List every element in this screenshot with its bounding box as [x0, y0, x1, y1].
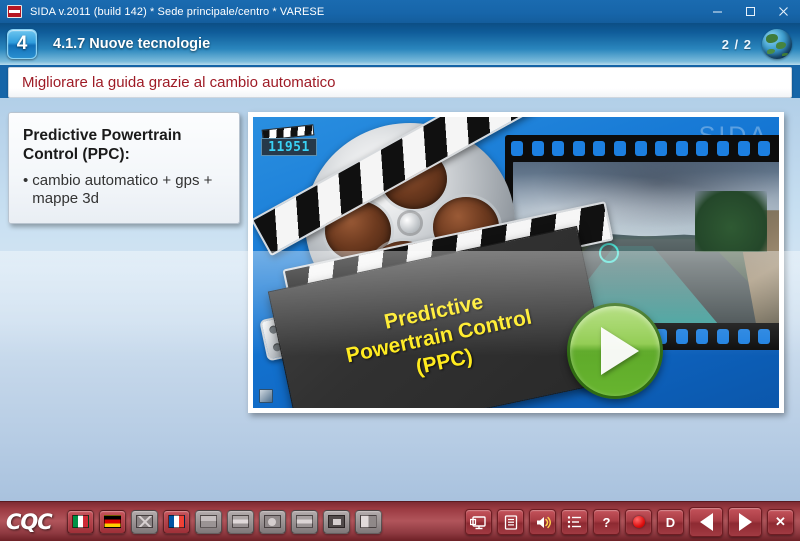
- language-button-9[interactable]: [323, 510, 350, 534]
- info-panel-list: • cambio automatico + gps + mappe 3d: [23, 172, 225, 208]
- italian-flag-icon: [72, 515, 89, 528]
- english-flag-icon: [136, 515, 153, 528]
- window-controls: [701, 0, 800, 23]
- video-canvas: SIDA Autoscuola Multimediale: [253, 117, 779, 408]
- language-6-flag-icon: [232, 515, 249, 528]
- bullet-marker: •: [23, 172, 28, 208]
- topic-bar: Migliorare la guida grazie al cambio aut…: [8, 67, 792, 98]
- play-icon: [601, 327, 639, 375]
- info-panel-heading: Predictive Powertrain Control (PPC):: [23, 126, 225, 164]
- language-button-10[interactable]: [355, 510, 382, 534]
- help-icon[interactable]: ?: [593, 509, 620, 535]
- toolbar-left-group: CQC: [0, 510, 382, 534]
- application-window: SIDA v.2011 (build 142) * Sede principal…: [0, 0, 800, 541]
- exit-button[interactable]: ✕: [767, 509, 794, 535]
- film-perforation: [717, 329, 729, 344]
- window-title: SIDA v.2011 (build 142) * Sede principal…: [30, 6, 324, 18]
- page-counter: 2 / 2: [722, 37, 752, 52]
- sida-app-icon: [7, 5, 22, 18]
- record-icon[interactable]: [625, 509, 652, 535]
- film-perforation: [614, 141, 626, 156]
- film-perforation: [738, 141, 750, 156]
- film-perforation: [738, 329, 750, 344]
- chapter-badge: 4: [7, 29, 37, 59]
- ar-target-icon: [599, 243, 619, 263]
- media-thumbnail-icon[interactable]: [259, 389, 273, 403]
- slide-content: Predictive Powertrain Control (PPC): • c…: [0, 98, 800, 501]
- arrow-right-icon: [739, 513, 752, 531]
- list-item: • cambio automatico + gps + mappe 3d: [23, 172, 225, 208]
- record-dot-icon: [633, 516, 645, 528]
- maximize-icon[interactable]: [734, 0, 767, 23]
- media-id-value: 11951: [268, 140, 310, 155]
- presentation-icon[interactable]: [465, 509, 492, 535]
- arrow-left-icon: [700, 513, 713, 531]
- bottom-toolbar: CQC: [0, 501, 800, 541]
- language-button-8[interactable]: [291, 510, 318, 534]
- list-item-label: cambio automatico + gps + mappe 3d: [32, 172, 225, 208]
- play-button[interactable]: [567, 303, 663, 399]
- film-perforation: [676, 141, 688, 156]
- language-button-english[interactable]: [131, 510, 158, 534]
- language-button-6[interactable]: [227, 510, 254, 534]
- film-perforation: [655, 141, 667, 156]
- chapter-header: 4 4.1.7 Nuove tecnologie 2 / 2: [0, 23, 800, 65]
- toolbar-right-group: ? D ✕: [465, 502, 794, 541]
- list-icon[interactable]: [561, 509, 588, 535]
- title-bar: SIDA v.2011 (build 142) * Sede principal…: [0, 0, 800, 23]
- language-button-french[interactable]: [163, 510, 190, 534]
- film-perforation: [758, 329, 770, 344]
- language-5-flag-icon: [200, 515, 217, 528]
- french-flag-icon: [168, 515, 185, 528]
- page-title: 4.1.7 Nuove tecnologie: [53, 36, 210, 52]
- trees-region: [695, 191, 767, 252]
- audio-icon[interactable]: [529, 509, 556, 535]
- film-perforation: [511, 141, 523, 156]
- info-panel: Predictive Powertrain Control (PPC): • c…: [8, 112, 240, 224]
- film-perforation: [552, 141, 564, 156]
- language-button-italian[interactable]: [67, 510, 94, 534]
- film-perforation: [717, 141, 729, 156]
- globe-icon[interactable]: [762, 29, 792, 59]
- media-id-body: 11951: [261, 138, 317, 156]
- film-perforation: [758, 141, 770, 156]
- language-button-german[interactable]: [99, 510, 126, 534]
- film-perforation: [696, 329, 708, 344]
- film-perforation: [593, 141, 605, 156]
- next-button[interactable]: [728, 507, 762, 537]
- film-perforation: [532, 141, 544, 156]
- film-perforation: [676, 329, 688, 344]
- cqc-logo: CQC: [6, 510, 52, 534]
- topic-title: Migliorare la guida grazie al cambio aut…: [22, 74, 336, 91]
- film-perforation: [573, 141, 585, 156]
- language-8-flag-icon: [296, 515, 313, 528]
- language-9-flag-icon: [328, 515, 345, 528]
- dictionary-icon[interactable]: D: [657, 509, 684, 535]
- language-10-flag-icon: [360, 515, 377, 528]
- film-perforations-top: [511, 141, 779, 156]
- close-icon[interactable]: [767, 0, 800, 23]
- language-button-5[interactable]: [195, 510, 222, 534]
- media-id-badge: 11951: [261, 127, 321, 161]
- document-icon[interactable]: [497, 509, 524, 535]
- film-perforation: [635, 141, 647, 156]
- video-panel[interactable]: SIDA Autoscuola Multimediale: [248, 112, 784, 413]
- minimize-icon[interactable]: [701, 0, 734, 23]
- clapperboard-slate-text: Predictive Powertrain Control (PPC): [339, 280, 540, 394]
- film-perforation: [696, 141, 708, 156]
- language-7-flag-icon: [264, 515, 281, 528]
- language-button-7[interactable]: [259, 510, 286, 534]
- german-flag-icon: [104, 515, 121, 528]
- header-right-group: 2 / 2: [722, 23, 792, 65]
- previous-button[interactable]: [689, 507, 723, 537]
